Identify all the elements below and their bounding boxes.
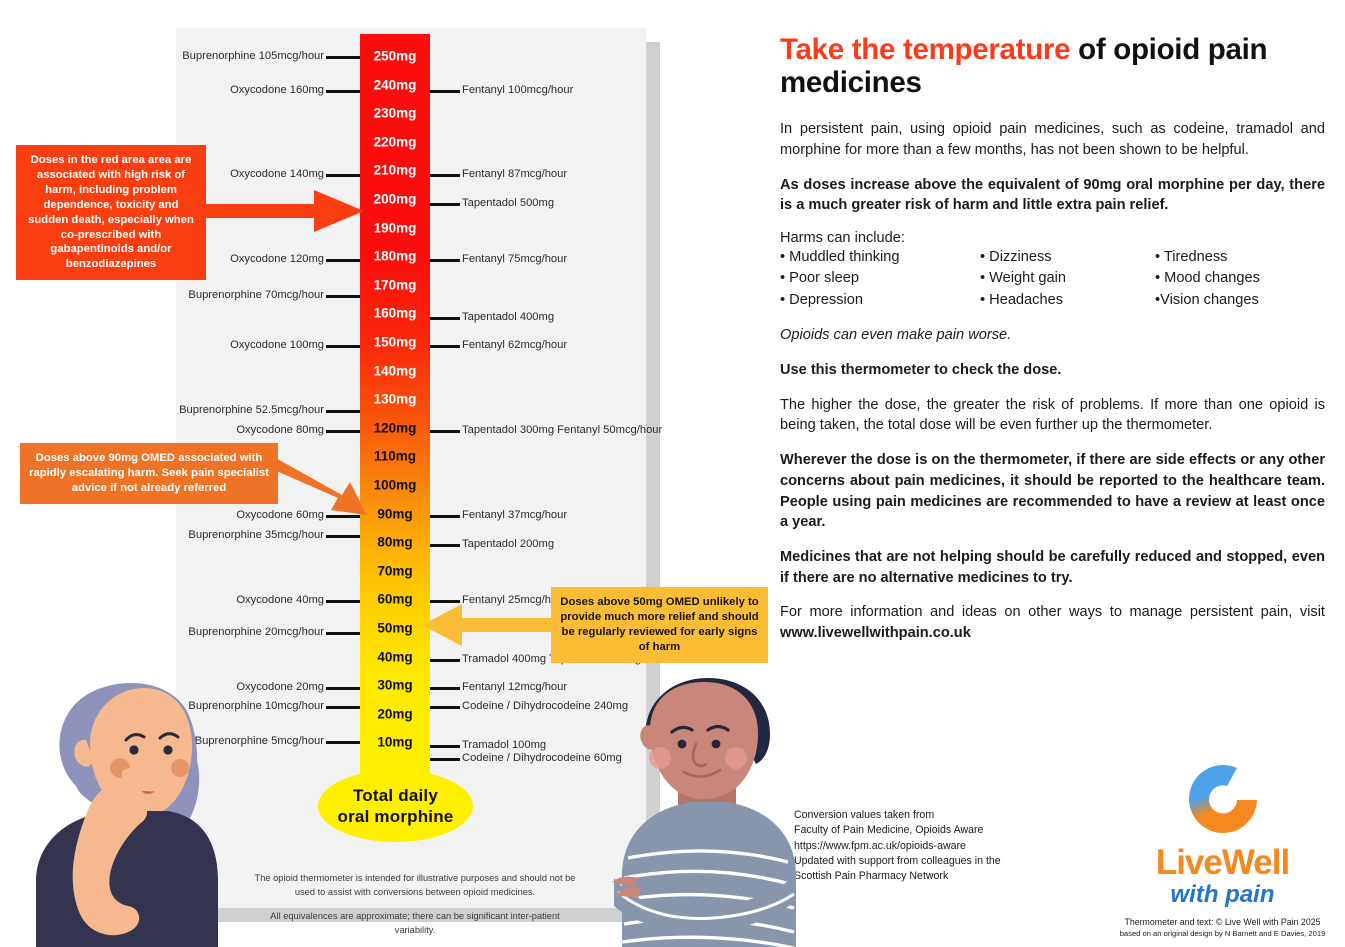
tick-mark-left	[326, 345, 360, 348]
harm-item: • Headaches	[980, 290, 1155, 311]
arrow-yellow-icon	[422, 602, 556, 648]
dose-equivalence-label-right: Codeine / Dihydrocodeine 60mg	[462, 752, 622, 764]
scale-label: 10mg	[360, 735, 430, 750]
harm-item: • Mood changes	[1155, 268, 1325, 289]
dose-equivalence-label-right: Fentanyl 100mcg/hour	[462, 84, 573, 96]
scale-label: 160mg	[360, 306, 430, 321]
scale-label: 30mg	[360, 678, 430, 693]
page-title: Take the temperature of opioid pain medi…	[780, 33, 1325, 99]
tick-mark-right	[430, 515, 460, 518]
dose-equivalence-label-left: Buprenorphine 52.5mcg/hour	[179, 404, 324, 416]
arrow-red-icon	[196, 188, 366, 234]
harms-heading: Harms can include:	[780, 230, 1325, 246]
tick-mark-left	[326, 632, 360, 635]
scale-label: 180mg	[360, 249, 430, 264]
bulb-label-line1: Total daily	[353, 786, 438, 805]
bulb-label-line2: oral morphine	[338, 807, 454, 826]
scale-label: 120mg	[360, 420, 430, 435]
scale-label: 130mg	[360, 392, 430, 407]
tick-mark-right	[430, 345, 460, 348]
tick-mark-right	[430, 174, 460, 177]
dose-equivalence-label-left: Buprenorphine 70mcg/hour	[188, 289, 324, 301]
more-info-text: For more information and ideas on other …	[780, 604, 1325, 620]
conversion-note-line: https://www.fpm.ac.uk/opioids-aware	[794, 839, 1084, 854]
livewell-logo: LiveWell with pain Thermometer and text:…	[1110, 760, 1335, 938]
scale-label: 60mg	[360, 592, 430, 607]
scale-label: 210mg	[360, 163, 430, 178]
dose-equivalence-label-right: Fentanyl 62mcg/hour	[462, 339, 567, 351]
scale-label: 150mg	[360, 335, 430, 350]
tick-mark-right	[430, 758, 460, 761]
harm-item: • Weight gain	[980, 268, 1155, 289]
dose-equivalence-label-left: Oxycodone 20mg	[236, 681, 324, 693]
scale-label: 200mg	[360, 192, 430, 207]
tick-mark-right	[430, 659, 460, 662]
website-link[interactable]: www.livewellwithpain.co.uk	[780, 625, 971, 641]
tick-mark-left	[326, 56, 360, 59]
copyright-line-2: based on an original design by N Barnett…	[1110, 929, 1335, 938]
tick-mark-left	[326, 741, 360, 744]
dose-equivalence-label-left: Buprenorphine 105mcg/hour	[182, 50, 324, 62]
scale-label: 70mg	[360, 563, 430, 578]
copyright-line-1: Thermometer and text: © Live Well with P…	[1110, 917, 1335, 927]
scale-label: 240mg	[360, 77, 430, 92]
tick-mark-left	[326, 90, 360, 93]
scale-label: 50mg	[360, 621, 430, 636]
tick-mark-right	[430, 259, 460, 262]
scale-label: 80mg	[360, 535, 430, 550]
scale-label: 220mg	[360, 134, 430, 149]
callout-yellow-area: Doses above 50mg OMED unlikely to provid…	[551, 587, 768, 663]
dose-equivalence-label-left: Oxycodone 160mg	[230, 84, 324, 96]
man-illustration	[608, 666, 804, 947]
thermometer-bulb: Total daily oral morphine	[318, 770, 473, 842]
tick-mark-right	[430, 745, 460, 748]
conversion-note-line: Scottish Pain Pharmacy Network	[794, 869, 1084, 884]
tick-mark-left	[326, 174, 360, 177]
bulb-label: Total daily oral morphine	[338, 785, 454, 828]
conversion-note-line: Updated with support from colleagues in …	[794, 854, 1084, 869]
scale-label: 250mg	[360, 49, 430, 64]
dose-equivalence-label-right: Fentanyl 75mcg/hour	[462, 253, 567, 265]
logo-wordmark: LiveWell	[1110, 845, 1335, 880]
disclaimer-line-2: All equivalences are approximate; there …	[250, 910, 580, 938]
paragraph-pain-worse: Opioids can even make pain worse.	[780, 325, 1325, 346]
tick-mark-left	[326, 410, 360, 413]
thermometer-panel: Total daily oral morphine 250mg240mg230m…	[0, 0, 770, 947]
harm-item: • Dizziness	[980, 247, 1155, 268]
tick-mark-right	[430, 687, 460, 690]
dose-equivalence-label-right: Codeine / Dihydrocodeine 240mg	[462, 700, 628, 712]
disclaimer-line-1: The opioid thermometer is intended for i…	[250, 872, 580, 900]
tick-mark-left	[326, 535, 360, 538]
dose-equivalence-label-right: Tapentadol 300mg Fentanyl 50mcg/hour	[462, 424, 662, 436]
dose-equivalence-label-right: Tramadol 100mg	[462, 739, 546, 751]
paragraph-intro: In persistent pain, using opioid pain me…	[780, 119, 1325, 160]
scale-label: 20mg	[360, 706, 430, 721]
tick-mark-left	[326, 600, 360, 603]
dose-equivalence-label-left: Oxycodone 40mg	[236, 594, 324, 606]
tick-mark-left	[326, 706, 360, 709]
tick-mark-left	[326, 430, 360, 433]
harm-item: • Muddled thinking	[780, 247, 980, 268]
conversion-note-line: Faculty of Pain Medicine, Opioids Aware	[794, 823, 1084, 838]
tick-mark-right	[430, 544, 460, 547]
tick-mark-left	[326, 687, 360, 690]
scale-label: 140mg	[360, 363, 430, 378]
harm-item: • Tiredness	[1155, 247, 1325, 268]
scale-label: 230mg	[360, 106, 430, 121]
dose-equivalence-label-right: Fentanyl 87mcg/hour	[462, 168, 567, 180]
page-title-highlight: Take the temperature	[780, 33, 1070, 66]
scale-label: 40mg	[360, 649, 430, 664]
paragraph-side-effects: Wherever the dose is on the thermometer,…	[780, 450, 1325, 533]
paragraph-reduce-stop: Medicines that are not helping should be…	[780, 547, 1325, 588]
tick-mark-left	[326, 259, 360, 262]
paragraph-90mg-warning: As doses increase above the equivalent o…	[780, 175, 1325, 216]
dose-equivalence-label-right: Fentanyl 12mcg/hour	[462, 681, 567, 693]
info-panel: Take the temperature of opioid pain medi…	[770, 0, 1345, 947]
tick-mark-right	[430, 90, 460, 93]
dose-equivalence-label-left: Oxycodone 140mg	[230, 168, 324, 180]
dose-equivalence-label-right: Tapentadol 200mg	[462, 538, 554, 550]
tick-mark-left	[326, 295, 360, 298]
tick-mark-right	[430, 430, 460, 433]
dose-equivalence-label-right: Fentanyl 37mcg/hour	[462, 509, 567, 521]
logo-tagline: with pain	[1110, 882, 1335, 908]
scale-label: 110mg	[360, 449, 430, 464]
dose-equivalence-label-left: Oxycodone 80mg	[236, 424, 324, 436]
woman-illustration	[28, 666, 224, 947]
paragraph-higher-dose: The higher the dose, the greater the ris…	[780, 395, 1325, 436]
scale-label: 90mg	[360, 506, 430, 521]
arrow-orange-icon	[272, 455, 370, 517]
callout-red-area: Doses in the red area area are associate…	[16, 145, 206, 280]
scale-label: 100mg	[360, 478, 430, 493]
disclaimer-block: The opioid thermometer is intended for i…	[250, 872, 580, 938]
tick-mark-right	[430, 203, 460, 206]
dose-equivalence-label-right: Tapentadol 400mg	[462, 311, 554, 323]
scale-label: 190mg	[360, 220, 430, 235]
dose-equivalence-label-right: Tapentadol 500mg	[462, 197, 554, 209]
tick-mark-right	[430, 317, 460, 320]
dose-equivalence-label-left: Buprenorphine 35mcg/hour	[188, 529, 324, 541]
harm-item: • Poor sleep	[780, 268, 980, 289]
dose-equivalence-label-left: Oxycodone 100mg	[230, 339, 324, 351]
dose-equivalence-label-left: Buprenorphine 20mcg/hour	[188, 626, 324, 638]
conversion-note-line: Conversion values taken from	[794, 808, 1084, 823]
logo-ring-icon	[1180, 760, 1266, 840]
harms-list: • Muddled thinking • Dizziness • Tiredne…	[780, 247, 1325, 311]
paragraph-use-thermometer: Use this thermometer to check the dose.	[780, 360, 1325, 381]
harm-item: • Depression	[780, 290, 980, 311]
callout-orange-area: Doses above 90mg OMED associated with ra…	[20, 443, 278, 504]
conversion-source-note: Conversion values taken fromFaculty of P…	[794, 808, 1084, 885]
harm-item: •Vision changes	[1155, 290, 1325, 311]
tick-mark-right	[430, 706, 460, 709]
scale-label: 170mg	[360, 277, 430, 292]
dose-equivalence-label-left: Oxycodone 120mg	[230, 253, 324, 265]
paragraph-more-info: For more information and ideas on other …	[780, 602, 1325, 643]
